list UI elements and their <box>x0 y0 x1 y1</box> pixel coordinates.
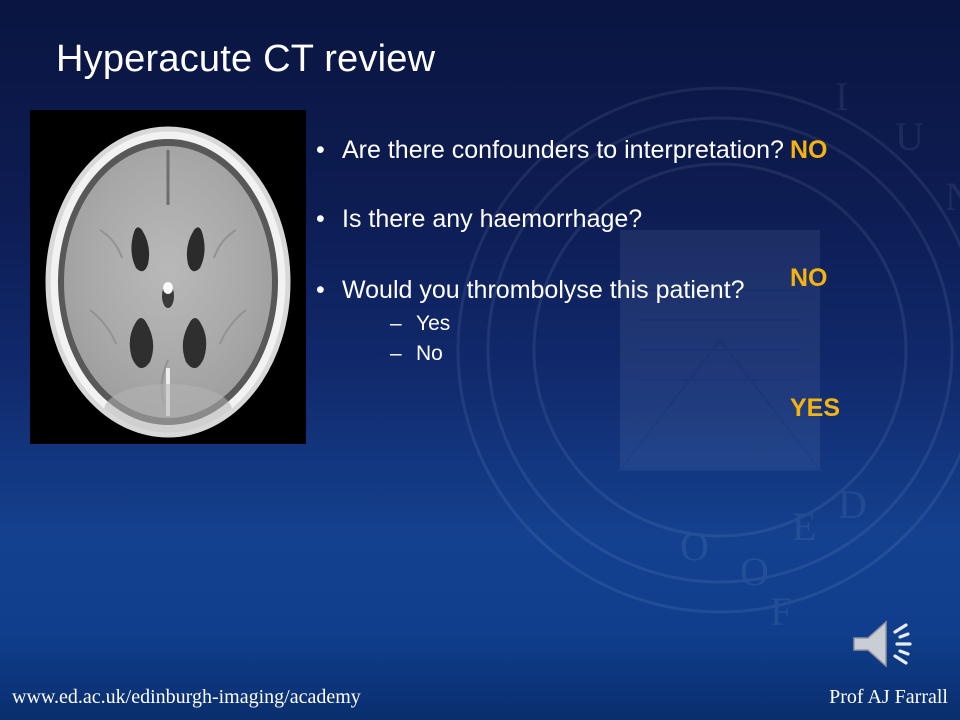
speaker-icon[interactable] <box>848 616 920 672</box>
answer-haemorrhage: NO <box>790 264 828 293</box>
svg-text:O: O <box>680 524 709 569</box>
bullet-sublist: – Yes – No <box>342 309 878 369</box>
sub-list-item: – Yes <box>390 309 878 339</box>
bullet-item: • Is there any haemorrhage? <box>312 203 878 236</box>
svg-text:E: E <box>792 504 816 549</box>
bullet-marker-icon: • <box>316 274 325 307</box>
bullet-text: Are there confounders to interpretation? <box>342 136 784 164</box>
svg-text:I: I <box>835 74 848 119</box>
sub-list-item-label: No <box>416 342 443 365</box>
svg-text:F: F <box>770 589 792 634</box>
dash-marker-icon: – <box>390 339 402 369</box>
svg-text:N: N <box>945 174 960 219</box>
footer-url[interactable]: www.ed.ac.uk/edinburgh-imaging/academy <box>12 686 361 709</box>
presentation-slide: U N I O F E D O Hyperacute CT review <box>0 0 960 720</box>
dash-marker-icon: – <box>390 309 402 339</box>
axial-head-ct-scan <box>30 110 306 444</box>
bullet-text: Would you thrombolyse this patient? <box>342 276 745 304</box>
slide-title: Hyperacute CT review <box>56 38 435 81</box>
sub-list-item-label: Yes <box>416 312 450 335</box>
answer-confounders: NO <box>790 136 828 165</box>
bullet-list: • Are there confounders to interpretatio… <box>312 134 878 379</box>
answer-thrombolyse: YES <box>790 394 840 423</box>
bullet-marker-icon: • <box>316 134 325 167</box>
footer-author: Prof AJ Farrall <box>829 686 948 709</box>
svg-text:O: O <box>740 549 769 594</box>
bullet-text: Is there any haemorrhage? <box>342 205 642 233</box>
bullet-marker-icon: • <box>316 203 325 236</box>
svg-text:D: D <box>838 482 867 527</box>
svg-text:U: U <box>895 114 924 159</box>
sub-list-item: – No <box>390 339 878 369</box>
